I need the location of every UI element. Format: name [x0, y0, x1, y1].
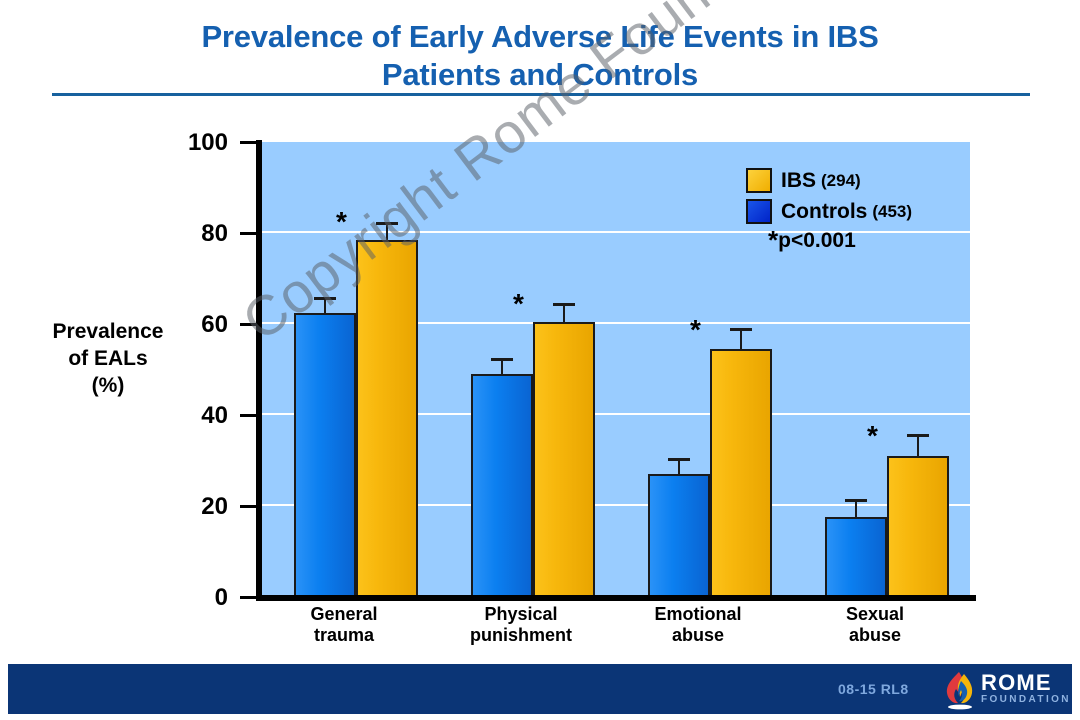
errorcap-controls-sexual-abuse — [845, 499, 867, 502]
significance-star-general-trauma: * — [336, 208, 347, 236]
errorcap-controls-emotional-abuse — [668, 458, 690, 461]
logo-foundation-text: FOUNDATION — [981, 694, 1071, 706]
gridline-80 — [262, 231, 970, 233]
legend-count-controls: (453) — [872, 201, 912, 223]
y-tick-label-40: 40 — [201, 404, 228, 428]
x-category-label-emotional-abuse-line-2: abuse — [618, 625, 778, 646]
rome-foundation-logo: ROME FOUNDATION — [943, 669, 1068, 711]
x-category-label-general-trauma-line-2: trauma — [264, 625, 424, 646]
significance-star-sexual-abuse: * — [867, 422, 878, 450]
significance-star-physical-punishment: * — [513, 290, 524, 318]
significance-star-emotional-abuse: * — [690, 316, 701, 344]
y-axis-title-line-3: (%) — [28, 372, 188, 399]
y-axis-title: Prevalence of EALs (%) — [28, 318, 188, 399]
legend-swatch-controls — [746, 199, 772, 224]
legend-label-ibs: IBS — [781, 170, 816, 192]
legend-label-controls: Controls — [781, 201, 867, 223]
bar-controls-sexual-abuse[interactable] — [825, 517, 887, 597]
y-tick-label-60: 60 — [201, 313, 228, 337]
flame-icon — [943, 670, 977, 710]
pvalue-star: * — [768, 225, 778, 255]
plot-area: * * * * IBS (294) Controls (453) *p<0.00… — [262, 142, 970, 597]
bar-controls-physical-punishment[interactable] — [471, 374, 533, 597]
errorcap-ibs-emotional-abuse — [730, 328, 752, 331]
y-axis-title-line-2: of EALs — [28, 345, 188, 372]
legend: IBS (294) Controls (453) *p<0.001 — [746, 168, 970, 230]
x-category-label-physical-punishment: Physical punishment — [433, 604, 609, 646]
errorbar-ibs-general-trauma — [386, 222, 388, 242]
pvalue-text: p<0.001 — [778, 229, 856, 252]
errorcap-controls-physical-punishment — [491, 358, 513, 361]
y-axis-line — [256, 140, 262, 600]
x-category-label-sexual-abuse: Sexual abuse — [795, 604, 955, 646]
footer-bar: 08-15 RL8 ROME FOUNDATION — [8, 664, 1072, 714]
logo-wordmark: ROME FOUNDATION — [981, 672, 1071, 706]
legend-swatch-ibs — [746, 168, 772, 193]
errorbar-ibs-sexual-abuse — [917, 434, 919, 458]
page-title-line-1: Prevalence of Early Adverse Life Events … — [0, 18, 1080, 56]
legend-item-ibs[interactable]: IBS (294) — [746, 168, 970, 193]
x-category-label-physical-punishment-line-2: punishment — [433, 625, 609, 646]
y-axis-title-line-1: Prevalence — [28, 318, 188, 345]
errorcap-ibs-physical-punishment — [553, 303, 575, 306]
footer-slide-code: 08-15 RL8 — [838, 681, 909, 697]
x-category-label-emotional-abuse: Emotional abuse — [618, 604, 778, 646]
bar-controls-emotional-abuse[interactable] — [648, 474, 710, 597]
x-category-label-sexual-abuse-line-2: abuse — [795, 625, 955, 646]
x-category-label-emotional-abuse-line-1: Emotional — [618, 604, 778, 625]
y-tick-label-100: 100 — [188, 131, 228, 155]
errorcap-controls-general-trauma — [314, 297, 336, 300]
bar-ibs-general-trauma[interactable] — [356, 240, 418, 597]
bar-ibs-emotional-abuse[interactable] — [710, 349, 772, 597]
legend-item-controls[interactable]: Controls (453) — [746, 199, 970, 224]
bar-ibs-sexual-abuse[interactable] — [887, 456, 949, 597]
errorcap-ibs-sexual-abuse — [907, 434, 929, 437]
pvalue-note: *p<0.001 — [768, 230, 856, 251]
errorbar-ibs-physical-punishment — [563, 303, 565, 324]
page-title: Prevalence of Early Adverse Life Events … — [0, 18, 1080, 94]
legend-count-ibs: (294) — [821, 170, 861, 192]
y-tick-label-80: 80 — [201, 222, 228, 246]
title-divider — [52, 93, 1030, 96]
logo-rome-text: ROME — [981, 672, 1071, 694]
errorbar-ibs-emotional-abuse — [740, 328, 742, 351]
x-category-label-sexual-abuse-line-1: Sexual — [795, 604, 955, 625]
x-axis-line — [256, 595, 976, 601]
x-category-label-physical-punishment-line-1: Physical — [433, 604, 609, 625]
y-tick-label-0: 0 — [215, 586, 228, 610]
errorcap-ibs-general-trauma — [376, 222, 398, 225]
bar-ibs-physical-punishment[interactable] — [533, 322, 595, 597]
errorbar-controls-sexual-abuse — [855, 499, 857, 519]
x-category-label-general-trauma: General trauma — [264, 604, 424, 646]
page-title-line-2: Patients and Controls — [0, 56, 1080, 94]
x-category-label-general-trauma-line-1: General — [264, 604, 424, 625]
bar-controls-general-trauma[interactable] — [294, 313, 356, 597]
y-tick-label-20: 20 — [201, 495, 228, 519]
